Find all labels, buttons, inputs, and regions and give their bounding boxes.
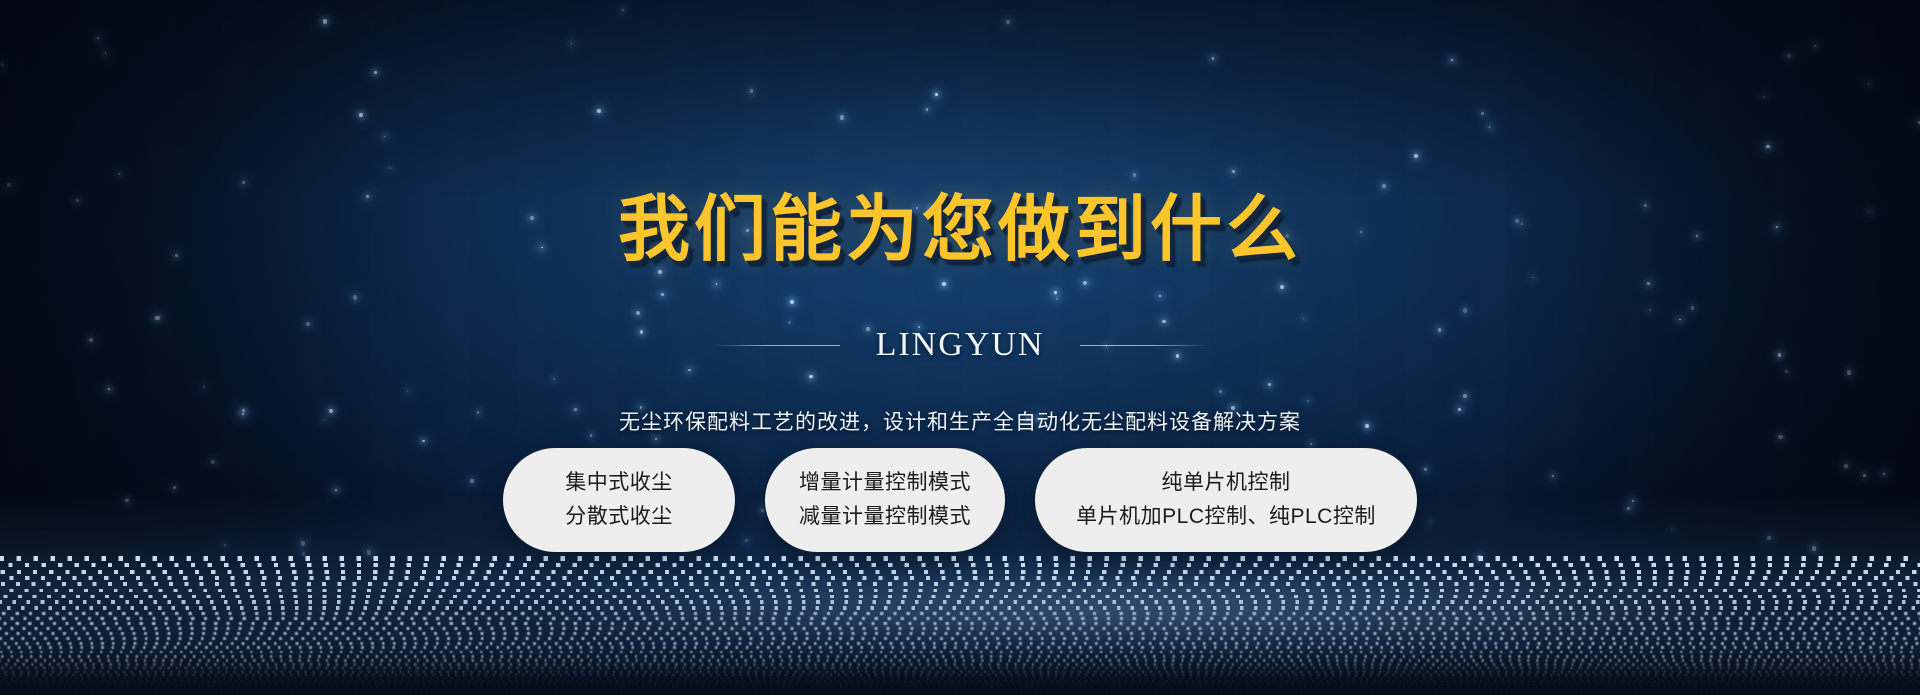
brand-row: LINGYUN <box>0 326 1920 364</box>
card-line: 分散式收尘 <box>565 500 673 534</box>
page-title: 我们能为您做到什么 <box>0 193 1920 265</box>
card-line: 单片机加PLC控制、纯PLC控制 <box>1076 500 1376 534</box>
card-line: 纯单片机控制 <box>1162 466 1291 500</box>
card-line: 减量计量控制模式 <box>799 500 971 534</box>
left-rule-decoration <box>712 345 840 346</box>
feature-card-list: 集中式收尘 分散式收尘 增量计量控制模式 减量计量控制模式 纯单片机控制 单片机… <box>0 448 1920 552</box>
banner-content: 我们能为您做到什么 LINGYUN 无尘环保配料工艺的改进，设计和生产全自动化无… <box>0 0 1920 695</box>
card-line: 集中式收尘 <box>565 466 673 500</box>
feature-card-dust-collection[interactable]: 集中式收尘 分散式收尘 <box>503 448 735 552</box>
right-rule-decoration <box>1080 345 1208 346</box>
brand-name: LINGYUN <box>876 326 1045 364</box>
hero-banner: 我们能为您做到什么 LINGYUN 无尘环保配料工艺的改进，设计和生产全自动化无… <box>0 0 1920 695</box>
banner-description: 无尘环保配料工艺的改进，设计和生产全自动化无尘配料设备解决方案 <box>0 406 1920 436</box>
card-line: 增量计量控制模式 <box>799 466 971 500</box>
feature-card-control-system[interactable]: 纯单片机控制 单片机加PLC控制、纯PLC控制 <box>1035 448 1417 552</box>
feature-card-metering-mode[interactable]: 增量计量控制模式 减量计量控制模式 <box>765 448 1005 552</box>
